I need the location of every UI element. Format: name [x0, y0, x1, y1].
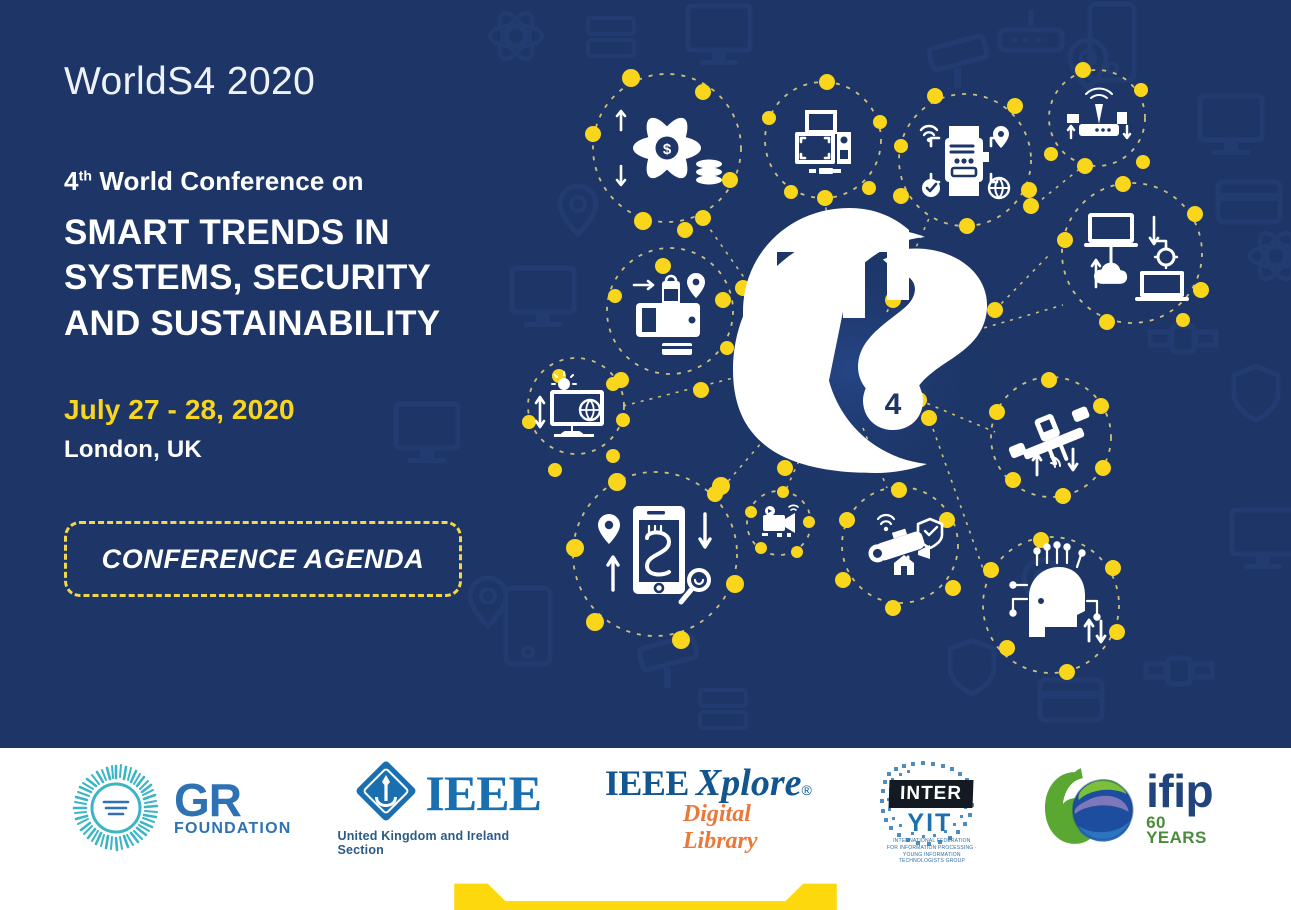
ieee-xplore-logo[interactable]: IEEE Xplore ® Digital Library — [605, 761, 831, 855]
page-title: SMART TRENDS IN SYSTEMS, SECURITY AND SU… — [64, 210, 534, 347]
photo-scanner-icon — [795, 110, 851, 174]
phone-map-route-icon — [598, 506, 711, 602]
hero-copy: WorldS4 2020 4th World Conference on SMA… — [64, 62, 534, 597]
ifip-globe-60-icon — [1031, 760, 1143, 856]
headline-line-3: AND SUSTAINABILITY — [64, 301, 534, 347]
ieee-wordmark: IEEE — [425, 764, 541, 822]
laptop-cloud-sync-icon — [1084, 213, 1189, 301]
interyit-tagline: INTERNATIONAL FEDERATION FOR INFORMATION… — [887, 838, 977, 865]
smartwatch-wifi-icon — [921, 126, 1009, 198]
event-brand: WorldS4 2020 — [64, 62, 534, 101]
conference-agenda-button[interactable]: CONFERENCE AGENDA — [64, 521, 462, 597]
cctv-camera-shield-icon — [864, 515, 942, 575]
ifip-wordmark: ifip — [1146, 771, 1231, 812]
interyit-logo[interactable]: INTER YIT INTERNATIONAL FEDERATION FOR I… — [877, 758, 985, 858]
interyit-bottom-label: YIT — [895, 808, 965, 838]
sponsor-logo-row: GR FOUNDATION — [0, 748, 1291, 868]
event-location: London, UK — [64, 436, 534, 464]
interyit-top-label: INTER — [888, 780, 973, 808]
gr-foundation-wordmark: GR FOUNDATION — [174, 779, 291, 836]
gr-sunburst-icon — [70, 762, 162, 854]
headline-line-1: SMART TRENDS IN — [64, 210, 534, 256]
ai-head-circuit-icon — [1010, 542, 1105, 642]
monitor-globe-icon — [536, 372, 604, 437]
sponsor-footer: GR FOUNDATION — [0, 748, 1291, 910]
edition-rest: World Conference on — [92, 166, 364, 196]
conference-edition-line: 4th World Conference on — [64, 167, 534, 196]
ieee-uki-logo[interactable]: IEEE United Kingdom and Ireland Section — [337, 760, 558, 857]
headline-line-2: SYSTEMS, SECURITY — [64, 255, 534, 301]
xplore-word: Xplore — [696, 761, 802, 805]
hero-section: WorldS4 2020 4th World Conference on SMA… — [0, 0, 1291, 748]
ifip-logo[interactable]: ifip 60 YEARS — [1031, 760, 1231, 856]
gr-subtitle: FOUNDATION — [174, 822, 291, 837]
xplore-subtitle: Digital Library — [683, 801, 831, 855]
gr-foundation-logo[interactable]: GR FOUNDATION — [70, 762, 291, 854]
logo-badge-number: 4 — [885, 388, 902, 421]
conference-banner: WorldS4 2020 4th World Conference on SMA… — [0, 0, 1291, 910]
edition-number: 4 — [64, 166, 79, 196]
yellow-accent-band — [0, 862, 1291, 910]
mobile-payment-icon — [634, 273, 705, 355]
edition-ordinal: th — [79, 167, 92, 183]
video-camera-wifi-icon — [762, 505, 798, 537]
ifip-anniversary-label: 60 YEARS — [1146, 815, 1231, 846]
satellite-icon — [1002, 400, 1102, 477]
network-graphic: 4 $ — [495, 0, 1291, 748]
atom-dollar-icon: $ — [617, 111, 722, 185]
gr-initials: GR — [174, 779, 291, 821]
svg-text:$: $ — [663, 141, 672, 158]
ieee-diamond-icon — [355, 760, 417, 827]
event-dates: July 27 - 28, 2020 — [64, 394, 534, 426]
router-antenna-icon — [1067, 88, 1130, 138]
xplore-ieee-word: IEEE — [605, 762, 689, 804]
ieee-section-label: United Kingdom and Ireland Section — [337, 829, 558, 857]
registered-trademark-icon: ® — [801, 782, 811, 798]
